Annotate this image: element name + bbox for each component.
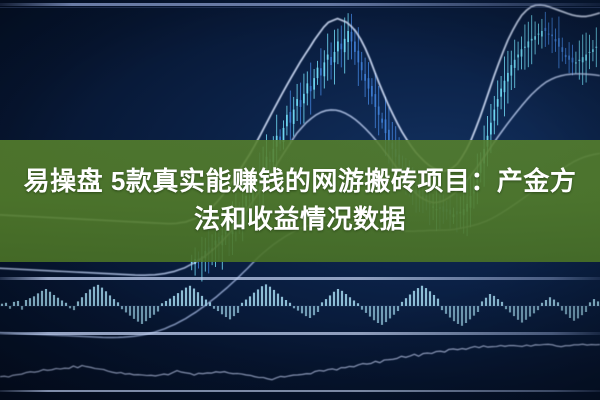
oscillator-histogram	[0, 284, 600, 325]
top-divider-line-secondary	[0, 7, 600, 8]
title-banner: 易操盘 5款真实能赚钱的网游搬砖项目：产金方 法和收益情况数据	[0, 140, 600, 262]
panel-separator-histogram-indicator	[0, 332, 600, 335]
panel-separator-bottom	[0, 390, 600, 392]
title-line-2: 法和收益情况数据	[14, 201, 586, 239]
panel-separator-price-histogram	[0, 277, 600, 280]
title-line-1: 易操盘 5款真实能赚钱的网游搬砖项目：产金方	[14, 163, 586, 201]
title-banner-text: 易操盘 5款真实能赚钱的网游搬砖项目：产金方 法和收益情况数据	[14, 163, 586, 238]
top-divider-line	[0, 3, 600, 6]
screenshot-root: 易操盘 5款真实能赚钱的网游搬砖项目：产金方 法和收益情况数据	[0, 0, 600, 400]
indicator-line	[0, 344, 600, 380]
